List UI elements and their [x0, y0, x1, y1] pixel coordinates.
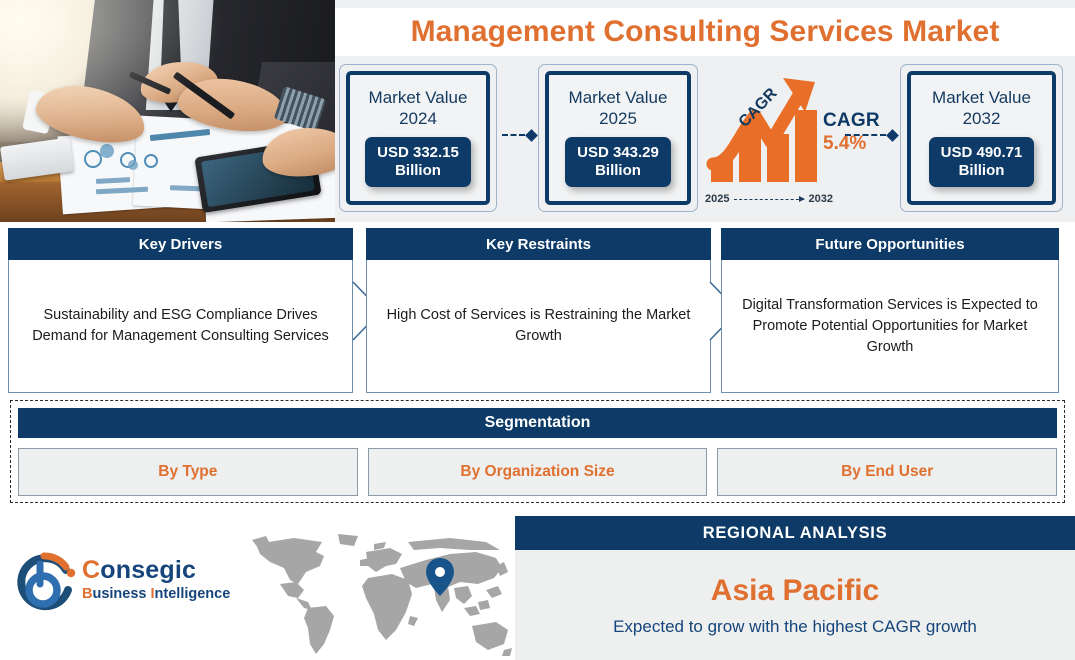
cagr-axis-end: 2032 [809, 193, 833, 205]
regional-analysis-section: REGIONAL ANALYSIS Asia Pacific Expected … [515, 516, 1075, 660]
diamond-icon [886, 129, 899, 142]
logo-name-rest: onsegic [100, 556, 196, 584]
regional-analysis-body: Asia Pacific Expected to grow with the h… [515, 550, 1075, 660]
logo-tagline: Business Intelligence [82, 586, 230, 602]
consegic-logo-icon [14, 550, 78, 614]
world-map [250, 532, 515, 660]
segmentation-item-by-end-user[interactable]: By End User [717, 448, 1057, 496]
panel-key-restraints: Key Restraints High Cost of Services is … [366, 228, 711, 393]
cagr-axis-start: 2025 [705, 193, 729, 205]
region-subtitle: Expected to grow with the highest CAGR g… [613, 617, 977, 637]
panel-body: Sustainability and ESG Compliance Drives… [8, 260, 353, 393]
dashed-line [502, 134, 525, 136]
segmentation-section: Segmentation By Type By Organization Siz… [10, 400, 1065, 503]
segmentation-item-by-type[interactable]: By Type [18, 448, 358, 496]
panel-heading: Key Restraints [366, 228, 711, 260]
logo-tag-intelligence: ntelligence [155, 586, 231, 602]
company-logo: Consegic Business Intelligence [12, 546, 244, 620]
region-name: Asia Pacific [711, 574, 879, 608]
cagr-axis: 2025 2032 [705, 190, 833, 208]
market-value-year: 2025 [599, 109, 637, 128]
panel-body: Digital Transformation Services is Expec… [721, 260, 1059, 393]
cagr-axis-arrow-icon [734, 199, 803, 200]
growth-chart-icon: CAGR [705, 72, 825, 190]
top-band: Management Consulting Services Market Ma… [0, 0, 1075, 222]
market-value-year: 2032 [963, 109, 1001, 128]
location-pin-icon [426, 558, 454, 596]
regional-analysis-heading: REGIONAL ANALYSIS [515, 516, 1075, 550]
market-value-badge: USD 490.71 Billion [929, 137, 1035, 187]
market-value-amount: USD 490.71 [941, 144, 1023, 161]
cagr-block: CAGR CAGR 5.4% 2025 2032 [705, 72, 895, 212]
market-value-badge: USD 343.29 Billion [565, 137, 671, 187]
market-value-card-2032: Market Value 2032 USD 490.71 Billion [900, 64, 1063, 212]
connector-2024-2025 [502, 129, 536, 141]
panel-body: High Cost of Services is Restraining the… [366, 260, 711, 393]
panel-key-drivers: Key Drivers Sustainability and ESG Compl… [8, 228, 353, 393]
logo-tag-b: B [82, 586, 92, 602]
market-value-label: Market Value [932, 88, 1031, 107]
panel-heading: Key Drivers [8, 228, 353, 260]
market-value-card-2025: Market Value 2025 USD 343.29 Billion [538, 64, 698, 212]
infographic-page: Management Consulting Services Market Ma… [0, 0, 1075, 660]
insight-panels: Key Drivers Sustainability and ESG Compl… [0, 228, 1075, 393]
market-value-amount: USD 332.15 [377, 144, 459, 161]
segmentation-items: By Type By Organization Size By End User [18, 448, 1057, 496]
connector-cagr-2032 [845, 129, 897, 141]
segmentation-heading: Segmentation [18, 408, 1057, 438]
diamond-icon [525, 129, 538, 142]
logo-name-initial: C [82, 556, 100, 584]
dashed-line [845, 134, 886, 136]
logo-name: Consegic [82, 556, 230, 585]
market-value-card-2024: Market Value 2024 USD 332.15 Billion [339, 64, 497, 212]
world-map-icon [250, 532, 515, 660]
segmentation-item-by-organization-size[interactable]: By Organization Size [368, 448, 708, 496]
market-value-label: Market Value [369, 88, 468, 107]
page-title: Management Consulting Services Market [335, 8, 1075, 56]
market-value-unit: Billion [395, 162, 441, 179]
market-value-unit: Billion [959, 162, 1005, 179]
logo-wordmark: Consegic Business Intelligence [82, 556, 230, 602]
market-value-year: 2024 [399, 109, 437, 128]
logo-tag-business: usiness [92, 586, 150, 602]
photo-light-glow [0, 0, 335, 222]
panel-heading: Future Opportunities [721, 228, 1059, 260]
panel-future-opportunities: Future Opportunities Digital Transformat… [721, 228, 1059, 393]
market-value-unit: Billion [595, 162, 641, 179]
market-value-amount: USD 343.29 [577, 144, 659, 161]
business-meeting-photo [0, 0, 335, 222]
market-value-badge: USD 332.15 Billion [365, 137, 471, 187]
market-value-label: Market Value [569, 88, 668, 107]
